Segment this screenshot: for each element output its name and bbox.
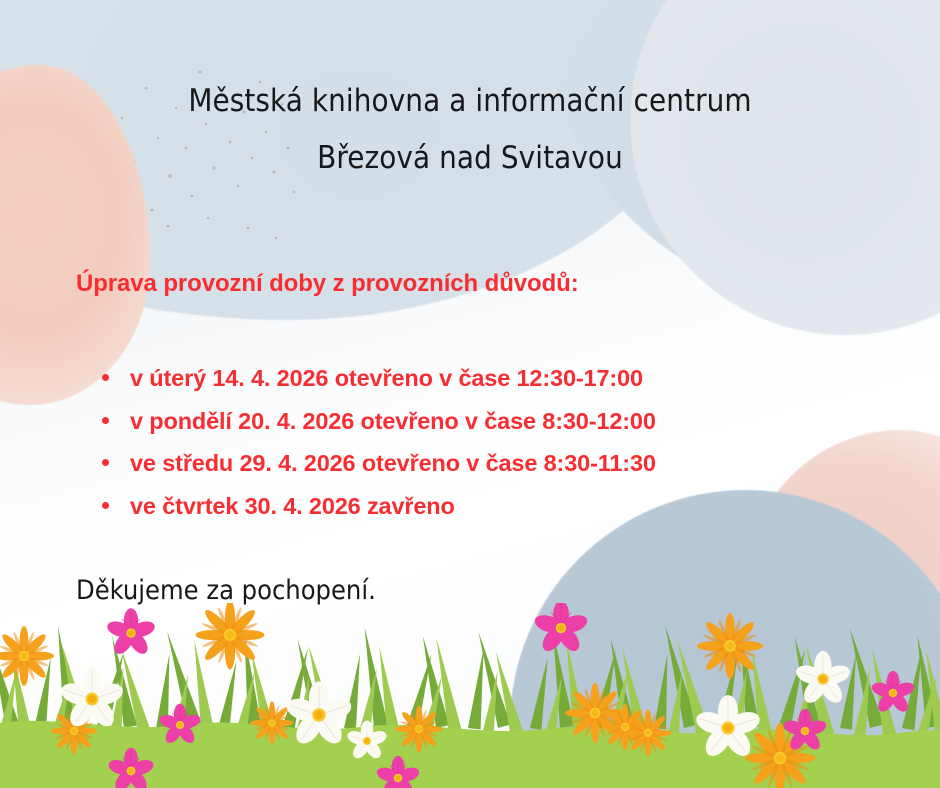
organization-name-line-1: Městská knihovna a informační centrum <box>0 83 940 119</box>
list-item-label: ve čtvrtek 30. 4. 2026 zavřeno <box>130 493 455 519</box>
list-item-label: ve středu 29. 4. 2026 otevřeno v čase 8:… <box>130 450 656 476</box>
organization-name-line-2: Březová nad Svitavou <box>0 140 940 176</box>
bullet-dot-icon <box>102 502 109 509</box>
notice-heading: Úprava provozní doby z provozních důvodů… <box>76 270 579 298</box>
opening-hours-list: v úterý 14. 4. 2026 otevřeno v čase 12:3… <box>98 357 656 527</box>
list-item: ve středu 29. 4. 2026 otevřeno v čase 8:… <box>98 442 656 485</box>
bullet-dot-icon <box>102 417 109 424</box>
bullet-dot-icon <box>102 374 109 381</box>
grass-and-flowers-border <box>0 603 940 788</box>
poster-canvas: Městská knihovna a informační centrum Bř… <box>0 0 940 788</box>
list-item-label: v pondělí 20. 4. 2026 otevřeno v čase 8:… <box>130 408 656 434</box>
list-item: v úterý 14. 4. 2026 otevřeno v čase 12:3… <box>98 357 656 400</box>
closing-message: Děkujeme za pochopení. <box>76 575 376 606</box>
list-item: v pondělí 20. 4. 2026 otevřeno v čase 8:… <box>98 400 656 443</box>
list-item: ve čtvrtek 30. 4. 2026 zavřeno <box>98 485 656 528</box>
bullet-dot-icon <box>102 459 109 466</box>
list-item-label: v úterý 14. 4. 2026 otevřeno v čase 12:3… <box>130 365 643 391</box>
